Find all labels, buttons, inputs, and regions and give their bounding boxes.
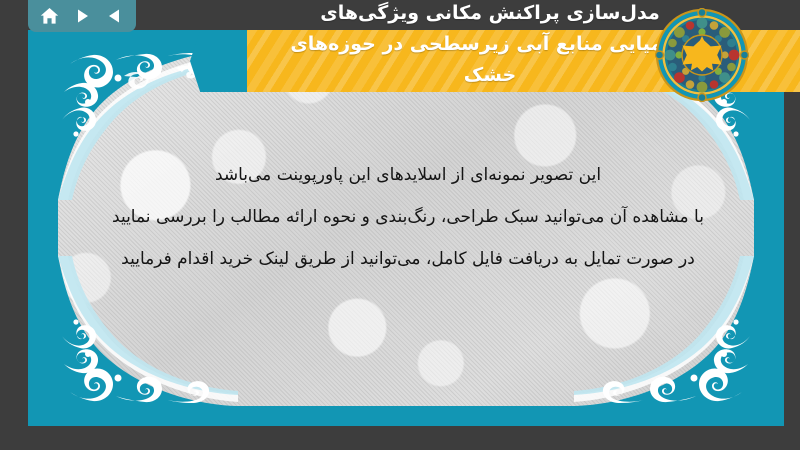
body-line-3: در صورت تمایل به دریافت فایل کامل، می‌تو… xyxy=(78,238,738,280)
slide-navigation-bar[interactable] xyxy=(28,0,136,32)
triangle-left-icon xyxy=(107,8,123,24)
body-line-1: این تصویر نمونه‌ای از اسلایدهای این پاور… xyxy=(78,154,738,196)
home-button[interactable] xyxy=(37,5,61,27)
home-icon xyxy=(40,7,59,25)
body-line-2: با مشاهده آن می‌توانید سبک طراحی، رنگ‌بن… xyxy=(78,196,738,238)
title-arrow-connector xyxy=(190,30,250,92)
previous-slide-button[interactable] xyxy=(103,5,127,27)
slide-body-text: این تصویر نمونه‌ای از اسلایدهای این پاور… xyxy=(78,154,738,280)
next-slide-button[interactable] xyxy=(70,5,94,27)
triangle-right-icon xyxy=(74,8,90,24)
presentation-slide: این تصویر نمونه‌ای از اسلایدهای این پاور… xyxy=(0,0,800,450)
slide-content-area: این تصویر نمونه‌ای از اسلایدهای این پاور… xyxy=(58,50,754,406)
persian-star-medallion-icon xyxy=(655,8,749,102)
